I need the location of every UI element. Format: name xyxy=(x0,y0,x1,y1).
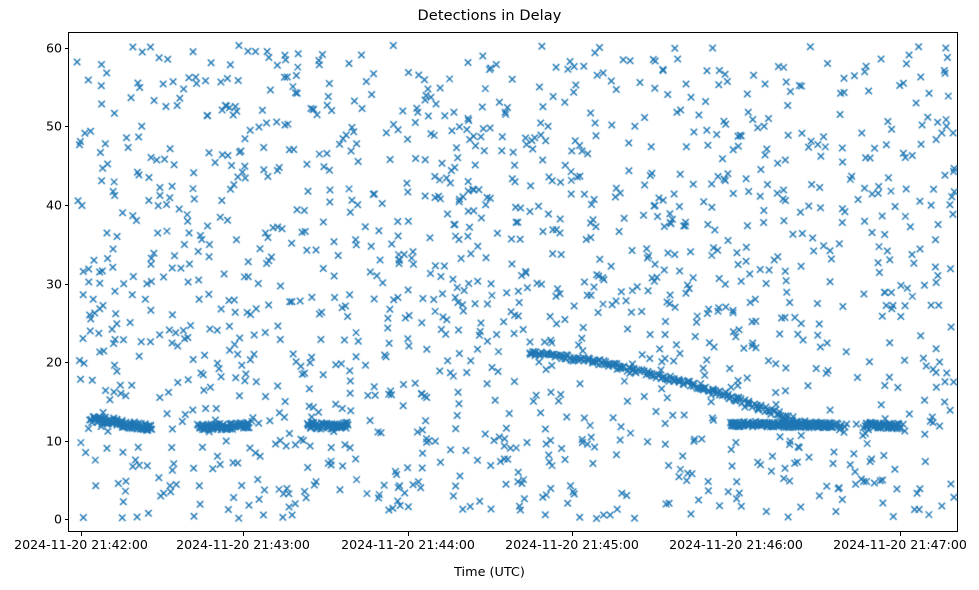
x-tick-label: 2024-11-20 21:43:00 xyxy=(176,537,310,552)
x-tick-label: 2024-11-20 21:46:00 xyxy=(669,537,803,552)
x-tick-mark xyxy=(243,532,244,536)
plot-area xyxy=(68,32,958,532)
y-tick-mark xyxy=(65,205,69,206)
y-tick-label: 50 xyxy=(16,119,62,134)
matplotlib-figure: Detections in Delay 0102030405060 2024-1… xyxy=(0,0,979,590)
y-tick-label: 10 xyxy=(16,433,62,448)
y-tick-label: 40 xyxy=(16,197,62,212)
x-tick-mark xyxy=(572,532,573,536)
scatter-data-layer xyxy=(69,33,959,533)
y-tick-label: 20 xyxy=(16,355,62,370)
y-tick-mark xyxy=(65,441,69,442)
y-tick-label: 60 xyxy=(16,40,62,55)
x-tick-label: 2024-11-20 21:44:00 xyxy=(341,537,475,552)
x-tick-mark xyxy=(900,532,901,536)
x-tick-label: 2024-11-20 21:47:00 xyxy=(833,537,967,552)
y-tick-mark xyxy=(65,48,69,49)
y-tick-mark xyxy=(65,126,69,127)
y-tick-label: 0 xyxy=(16,512,62,527)
x-axis-label: Time (UTC) xyxy=(0,565,979,580)
x-tick-label: 2024-11-20 21:42:00 xyxy=(14,537,148,552)
x-tick-mark xyxy=(408,532,409,536)
y-tick-mark xyxy=(65,362,69,363)
x-tick-label: 2024-11-20 21:45:00 xyxy=(505,537,639,552)
page-title: Detections in Delay xyxy=(0,8,979,24)
x-tick-mark xyxy=(736,532,737,536)
y-tick-label: 30 xyxy=(16,276,62,291)
x-tick-mark xyxy=(81,532,82,536)
y-tick-mark xyxy=(65,284,69,285)
y-tick-mark xyxy=(65,519,69,520)
y-axis-label: Bistatic Delay (km) xyxy=(0,221,2,343)
